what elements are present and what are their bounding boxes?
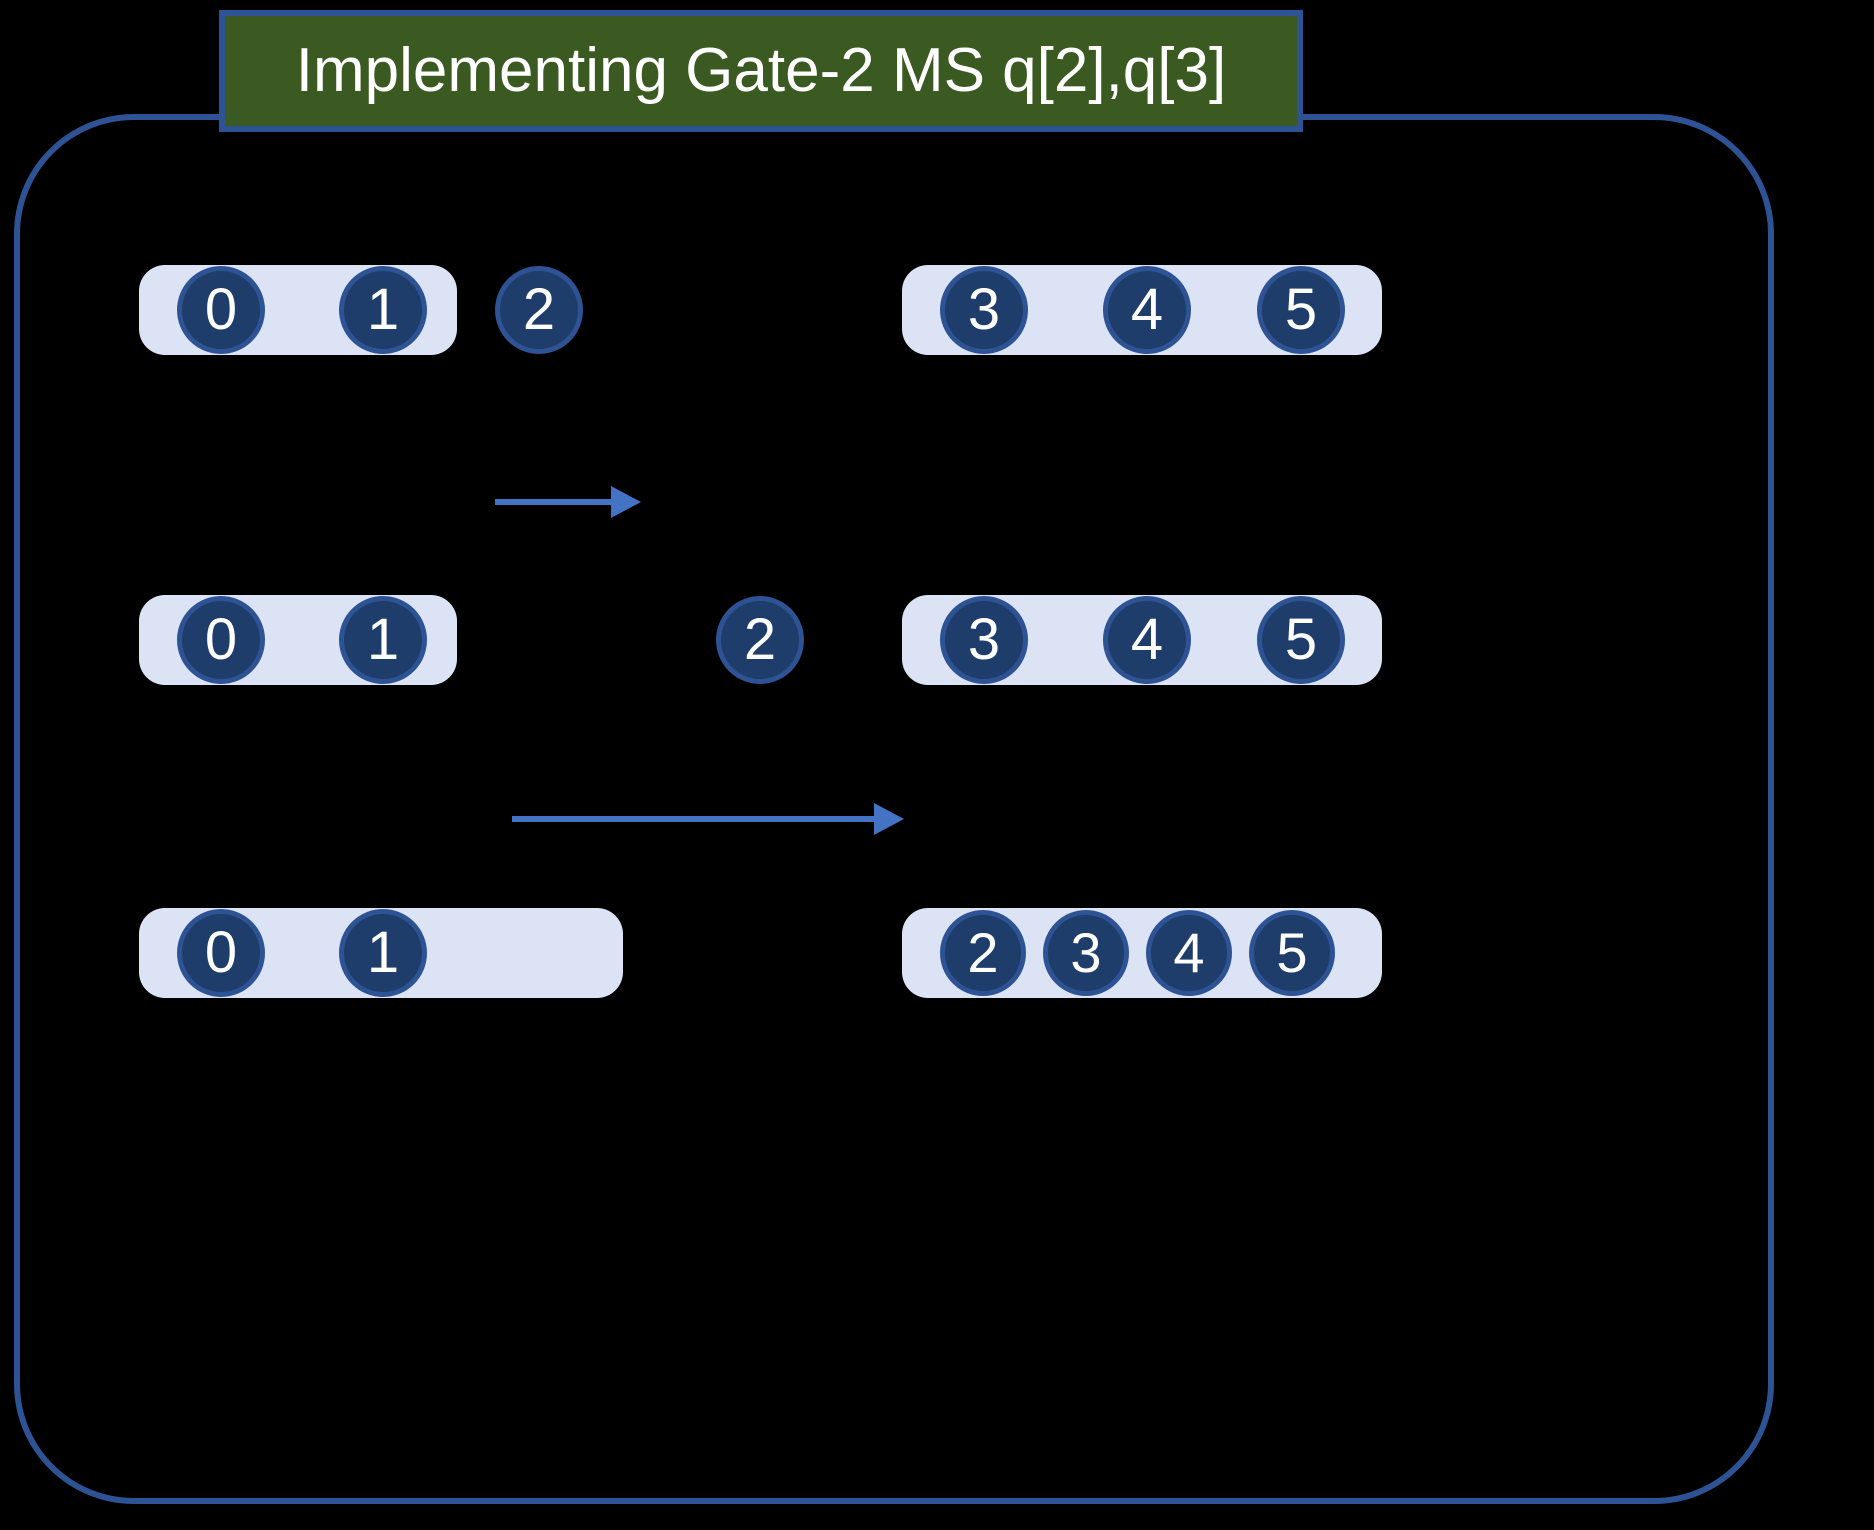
row3-qubit-1[interactable]: 1 [339, 909, 427, 997]
row3-qubit-0[interactable]: 0 [177, 909, 265, 997]
row2-qubit-1[interactable]: 1 [339, 596, 427, 684]
page-title: Implementing Gate-2 MS q[2],q[3] [296, 40, 1226, 102]
diagram-canvas: Implementing Gate-2 MS q[2],q[3] 0 1 2 3… [0, 0, 1874, 1530]
row1-qubit-2-loose[interactable]: 2 [495, 266, 583, 354]
transition-arrow-1 [495, 478, 643, 526]
transition-arrow-2 [512, 795, 912, 843]
row2-qubit-5[interactable]: 5 [1257, 596, 1345, 684]
row2-qubit-3[interactable]: 3 [940, 596, 1028, 684]
row1-qubit-0[interactable]: 0 [177, 266, 265, 354]
row3-qubit-3[interactable]: 3 [1043, 910, 1129, 996]
row1-qubit-4[interactable]: 4 [1103, 266, 1191, 354]
row2-qubit-0[interactable]: 0 [177, 596, 265, 684]
arrow-shaft-icon [512, 816, 880, 822]
row2-qubit-2-loose[interactable]: 2 [716, 596, 804, 684]
register-row-3: 0 1 2 3 4 5 [0, 908, 1874, 1018]
row1-qubit-3[interactable]: 3 [940, 266, 1028, 354]
register-row-1: 0 1 2 3 4 5 [0, 265, 1874, 375]
arrow-head-icon [611, 486, 641, 518]
arrow-shaft-icon [495, 499, 617, 505]
row3-qubit-5[interactable]: 5 [1249, 910, 1335, 996]
title-bar: Implementing Gate-2 MS q[2],q[3] [219, 10, 1303, 132]
register-row-2: 0 1 2 3 4 5 [0, 595, 1874, 705]
row3-qubit-4[interactable]: 4 [1146, 910, 1232, 996]
row1-qubit-5[interactable]: 5 [1257, 266, 1345, 354]
arrow-head-icon [874, 803, 904, 835]
row3-qubit-2[interactable]: 2 [940, 910, 1026, 996]
row1-qubit-1[interactable]: 1 [339, 266, 427, 354]
row2-qubit-4[interactable]: 4 [1103, 596, 1191, 684]
